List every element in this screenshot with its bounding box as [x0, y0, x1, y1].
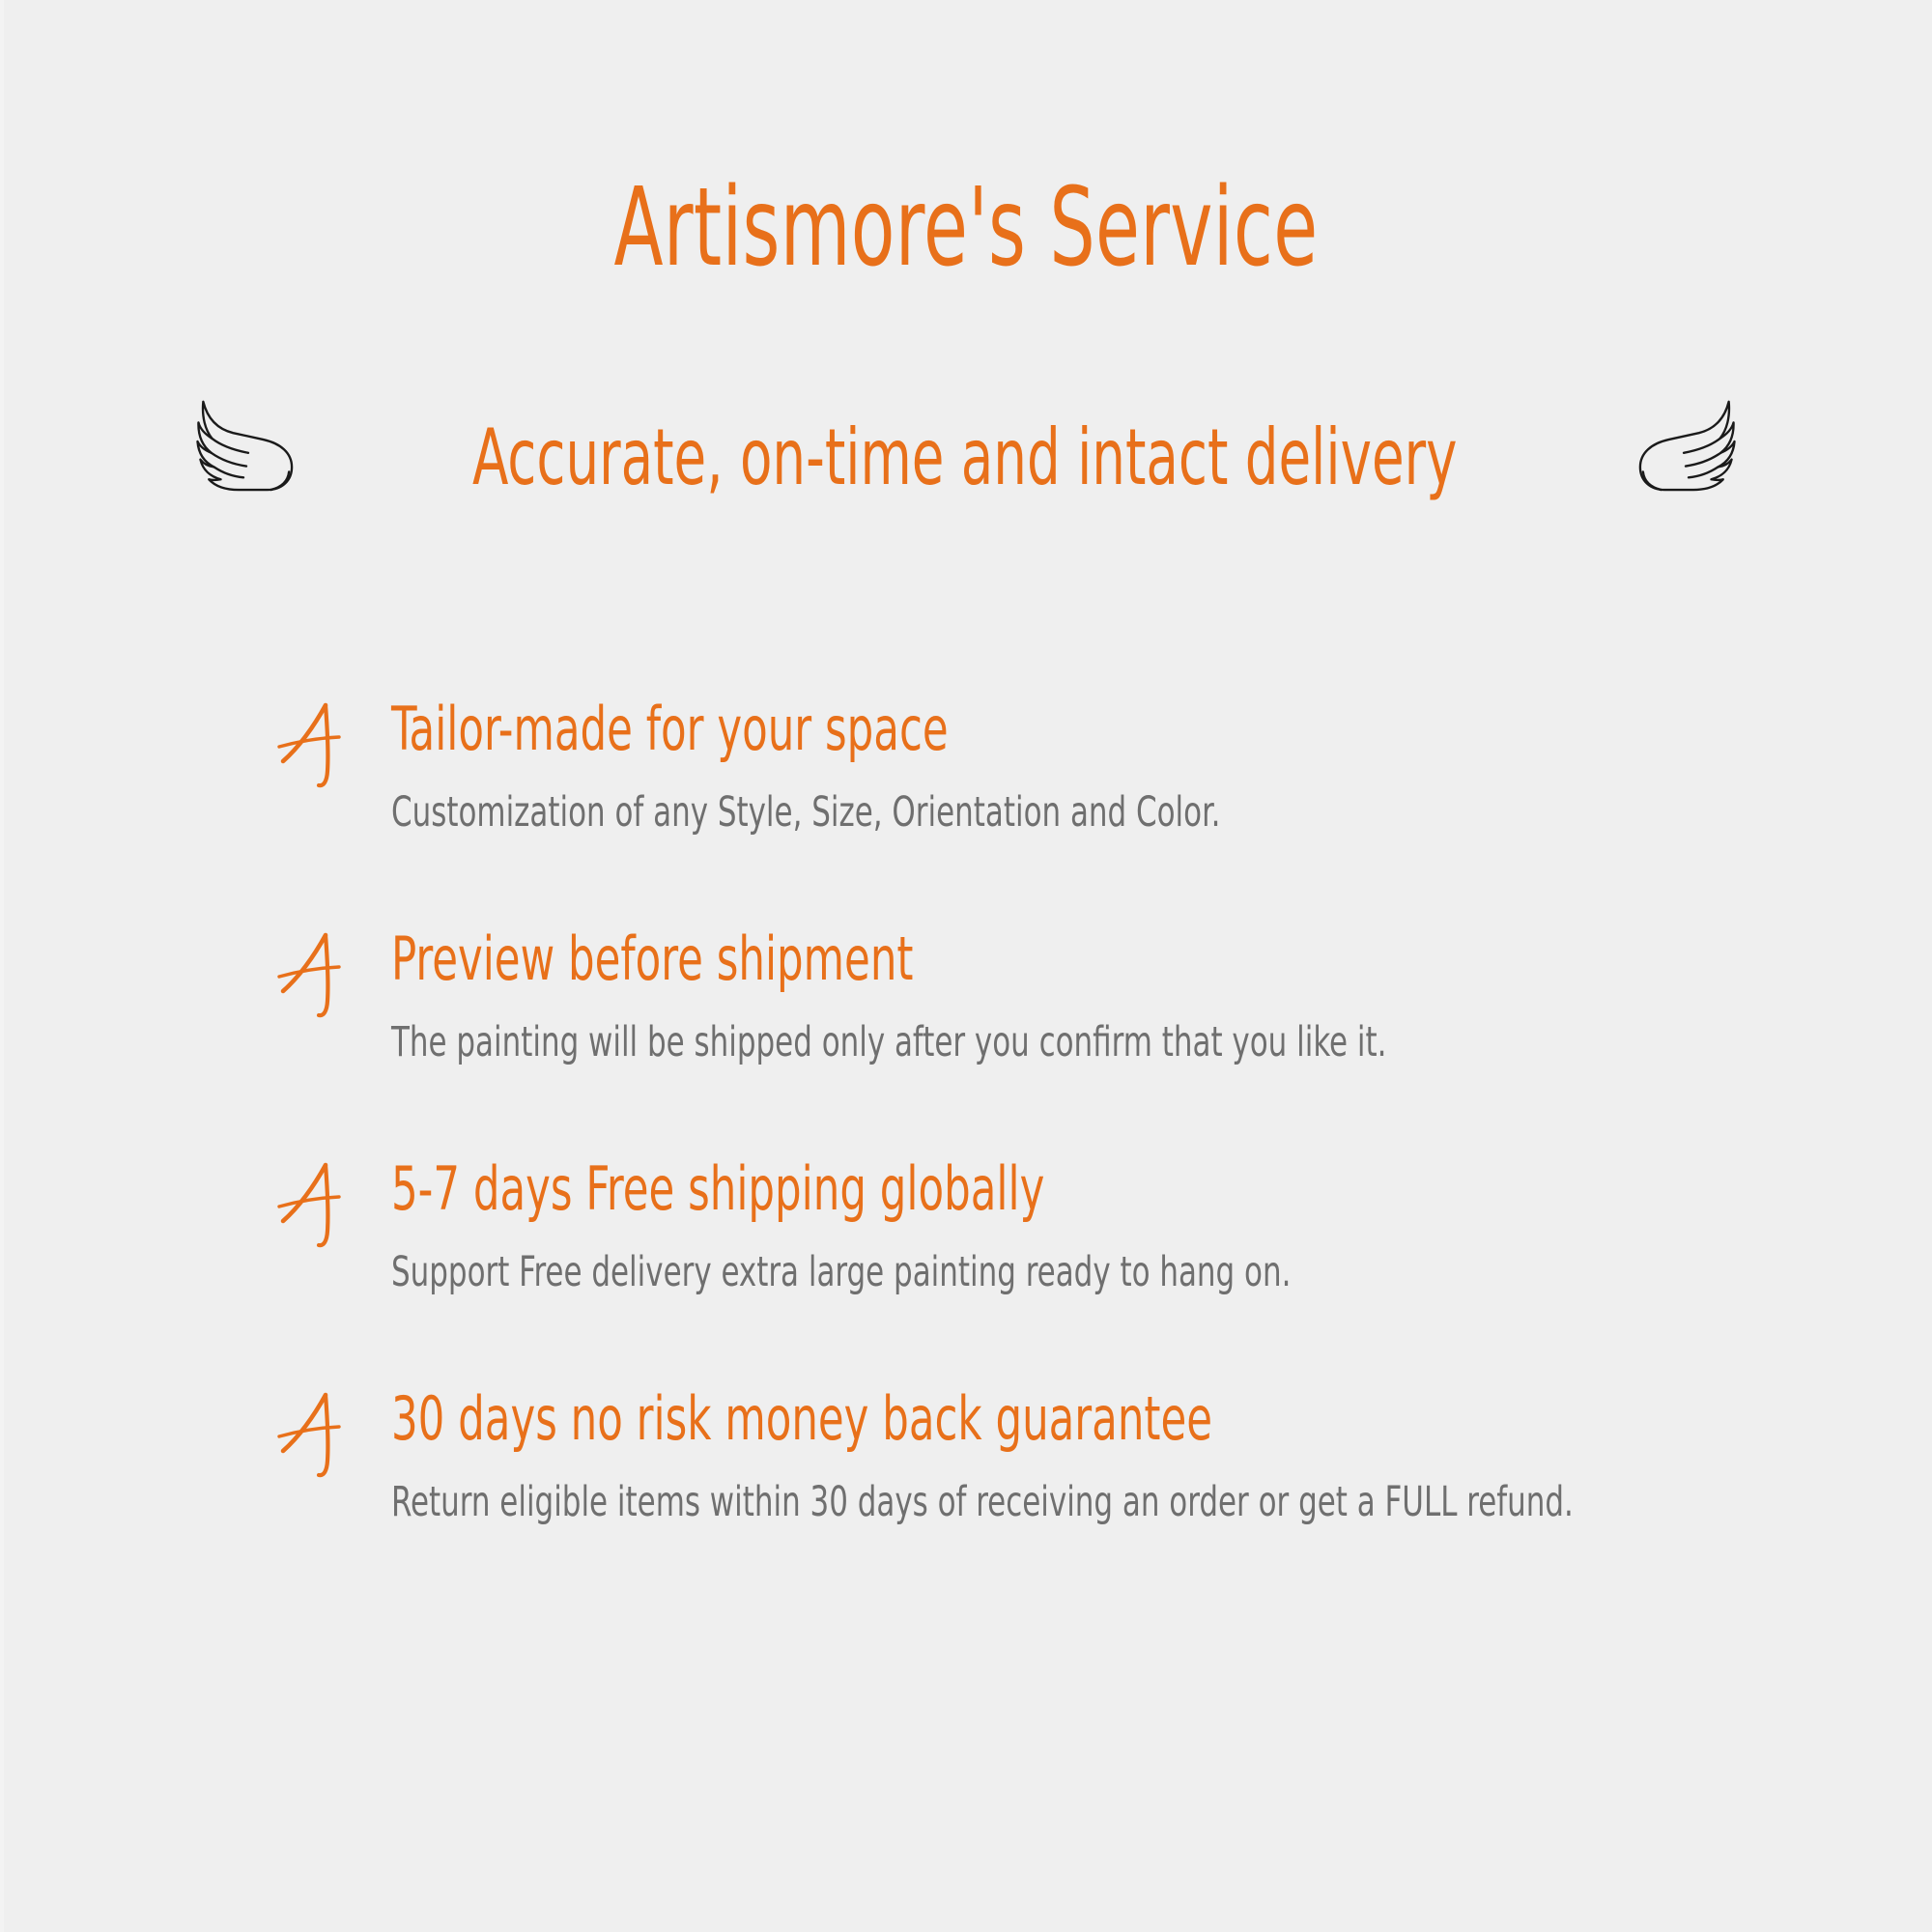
feature-description: Customization of any Style, Size, Orient… — [391, 790, 1597, 836]
feature-item: Preview before shipment The painting wil… — [275, 927, 1898, 1072]
feature-body: 5-7 days Free shipping globally Support … — [391, 1157, 1898, 1295]
subtitle-row: Accurate, on-time and intact delivery — [0, 386, 1932, 512]
page-subtitle: Accurate, on-time and intact delivery — [472, 400, 1457, 498]
feature-description: Support Free delivery extra large painti… — [391, 1250, 1597, 1295]
page-title: Artismore's Service — [251, 172, 1681, 286]
feature-list: Tailor-made for your space Customization… — [275, 697, 1898, 1532]
feature-description: Return eligible items within 30 days of … — [391, 1480, 1597, 1525]
feature-title: Tailor-made for your space — [391, 697, 1567, 761]
wing-icon — [189, 392, 303, 493]
calligraphic-a-icon — [275, 1391, 353, 1480]
service-info-page: Artismore's Service Accurate, on-time an… — [0, 0, 1932, 1932]
feature-title: Preview before shipment — [391, 927, 1567, 991]
feature-item: 30 days no risk money back guarantee Ret… — [275, 1387, 1898, 1532]
calligraphic-a-icon — [275, 701, 353, 790]
feature-item: 5-7 days Free shipping globally Support … — [275, 1157, 1898, 1302]
feature-body: 30 days no risk money back guarantee Ret… — [391, 1387, 1898, 1525]
wing-icon — [1629, 392, 1743, 493]
calligraphic-a-icon — [275, 931, 353, 1020]
feature-body: Preview before shipment The painting wil… — [391, 927, 1898, 1065]
feature-title: 5-7 days Free shipping globally — [391, 1157, 1567, 1221]
calligraphic-a-icon — [275, 1161, 353, 1250]
feature-item: Tailor-made for your space Customization… — [275, 697, 1898, 842]
feature-body: Tailor-made for your space Customization… — [391, 697, 1898, 836]
left-edge-strip — [0, 0, 4, 1932]
feature-description: The painting will be shipped only after … — [391, 1020, 1597, 1065]
feature-title: 30 days no risk money back guarantee — [391, 1387, 1567, 1451]
